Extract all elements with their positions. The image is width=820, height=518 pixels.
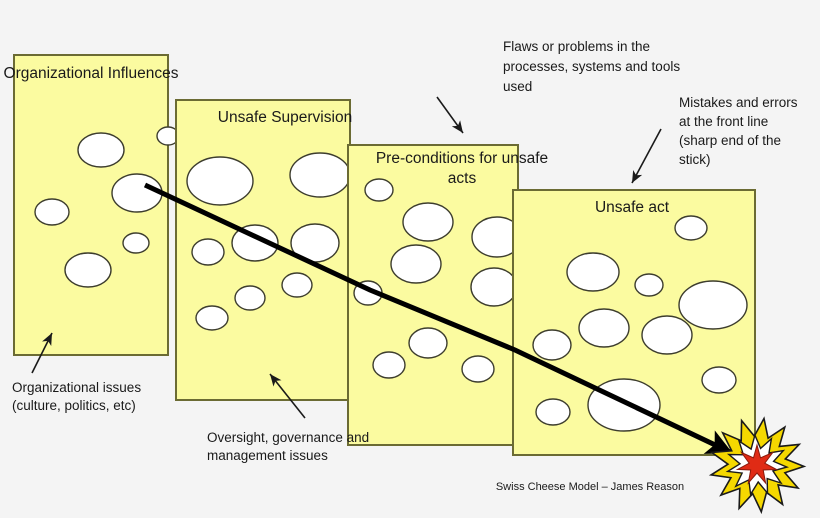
cheese-hole <box>409 328 447 358</box>
annotation-text-line: management issues <box>207 448 328 463</box>
slice-title: Pre-conditions for unsafe <box>376 150 548 167</box>
cheese-hole <box>702 367 736 393</box>
cheese-hole <box>282 273 312 297</box>
cheese-hole <box>675 216 707 240</box>
cheese-hole <box>471 268 517 306</box>
slice-title: Unsafe Supervision <box>218 109 352 126</box>
annotation-text-line: (sharp end of the <box>679 133 781 148</box>
cheese-hole <box>290 153 350 197</box>
cheese-hole <box>536 399 570 425</box>
cheese-slice-unsafe-act: Unsafe act <box>513 190 755 455</box>
cheese-hole <box>679 281 747 329</box>
cheese-hole <box>403 203 453 241</box>
cheese-hole <box>112 174 162 212</box>
cheese-hole <box>588 379 660 431</box>
cheese-slice-organizational-influences: Organizational Influences <box>4 55 179 355</box>
annotation-text-line: stick) <box>679 152 711 167</box>
cheese-hole <box>35 199 69 225</box>
slice-title: Organizational Influences <box>4 65 179 82</box>
slice-title-line2: acts <box>448 170 477 187</box>
cheese-hole <box>373 352 405 378</box>
annotation-text-line: processes, systems and tools <box>503 59 680 74</box>
cheese-hole <box>65 253 111 287</box>
cheese-hole <box>187 157 253 205</box>
cheese-hole <box>391 245 441 283</box>
annotation-text-line: (culture, politics, etc) <box>12 398 136 413</box>
figure-caption: Swiss Cheese Model – James Reason <box>496 481 684 493</box>
slice-title: Unsafe act <box>595 199 670 216</box>
cheese-hole <box>78 133 124 167</box>
cheese-hole <box>365 179 393 201</box>
annotation-text-line: Flaws or problems in the <box>503 39 650 54</box>
cheese-hole <box>635 274 663 296</box>
cheese-hole <box>579 309 629 347</box>
cheese-hole <box>642 316 692 354</box>
annotation-text-line: Oversight, governance and <box>207 430 369 445</box>
swiss-cheese-model-diagram: Organizational InfluencesUnsafe Supervis… <box>0 0 820 518</box>
cheese-hole <box>567 253 619 291</box>
annotation-text-line: at the front line <box>679 114 768 129</box>
cheese-hole <box>462 356 494 382</box>
cheese-hole <box>533 330 571 360</box>
cheese-hole <box>123 233 149 253</box>
cheese-slice-unsafe-supervision: Unsafe Supervision <box>176 100 352 400</box>
cheese-hole <box>192 239 224 265</box>
annotation-text-line: Organizational issues <box>12 380 141 395</box>
annotation-text-line: used <box>503 79 532 94</box>
diagram-canvas: Organizational InfluencesUnsafe Supervis… <box>0 0 820 518</box>
cheese-hole <box>235 286 265 310</box>
cheese-hole <box>196 306 228 330</box>
annotation-text-line: Mistakes and errors <box>679 95 798 110</box>
